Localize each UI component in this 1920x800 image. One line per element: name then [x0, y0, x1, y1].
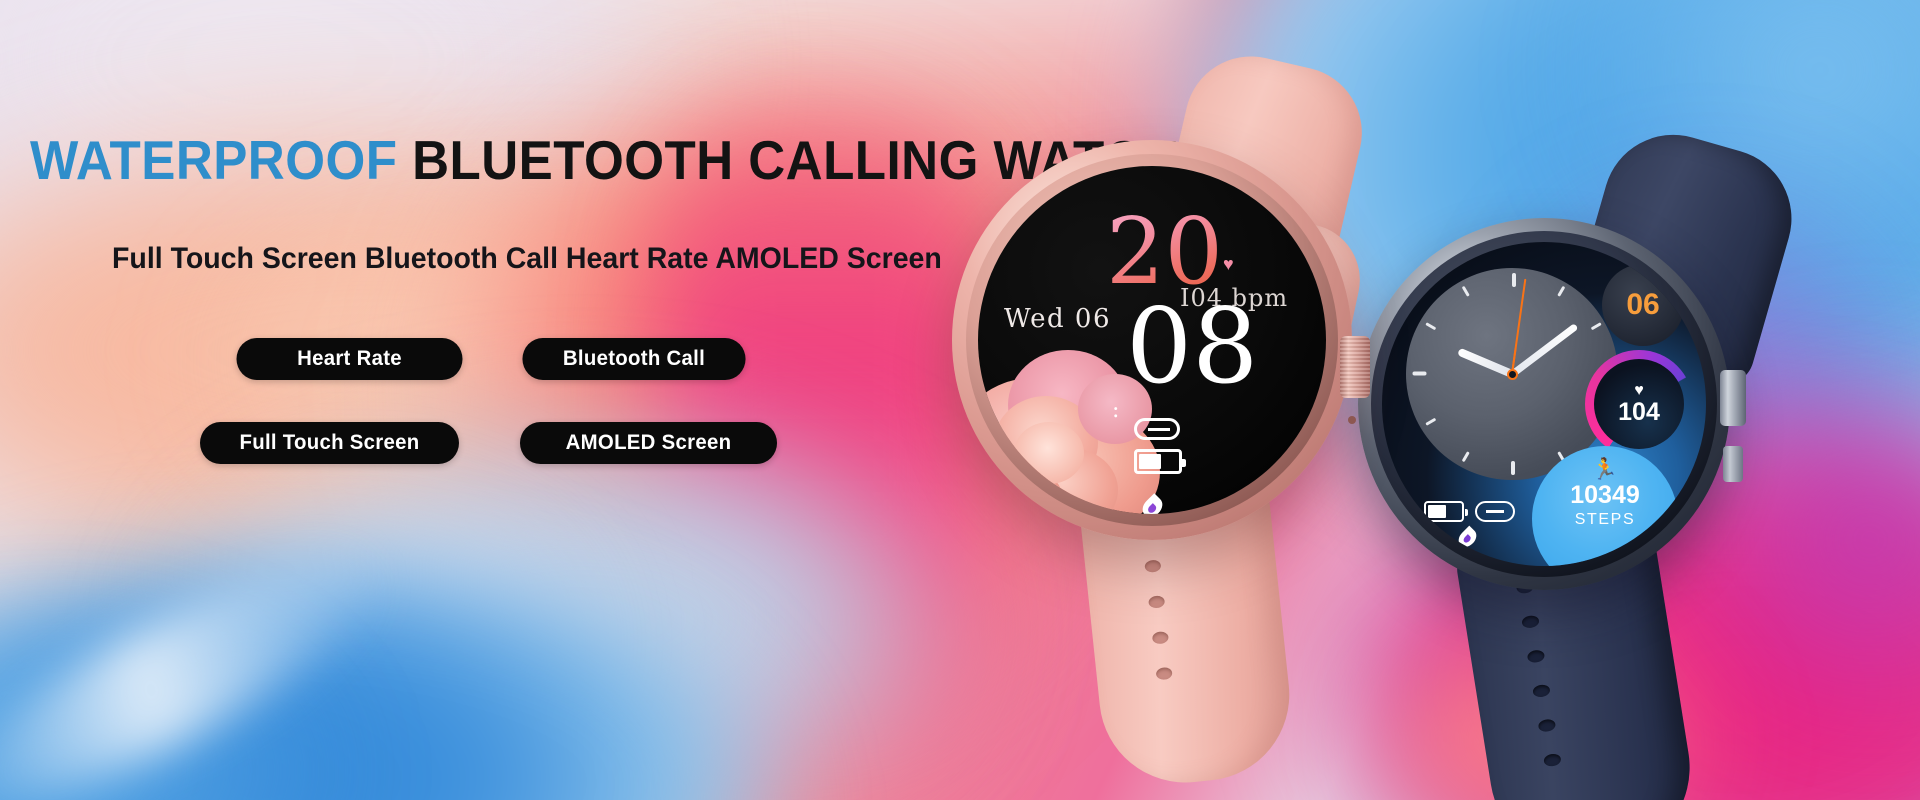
pink-watch-screen[interactable]: 20 Wed 06 ♥ I04 bpm 08 : [978, 166, 1326, 514]
navy-heart-rate-inner: ♥ 104 [1618, 383, 1660, 425]
heart-icon: ♥ [1223, 254, 1234, 275]
pink-side-sensor [1348, 416, 1356, 424]
battery-icon [1134, 449, 1182, 474]
feature-pill-full-touch-screen[interactable]: Full Touch Screen [200, 422, 459, 464]
navy-heart-rate-ring: ♥ 104 [1585, 350, 1693, 458]
navy-crown-button[interactable] [1720, 370, 1746, 426]
pink-watch-case: 20 Wed 06 ♥ I04 bpm 08 : [952, 140, 1352, 540]
pink-status-icons [1134, 418, 1182, 474]
minute-hand [1510, 323, 1578, 377]
feature-pill-group: Heart Rate Bluetooth Call Full Touch Scr… [196, 338, 816, 464]
feature-pill-row-1: Heart Rate Bluetooth Call [196, 338, 816, 380]
dial-pivot [1507, 369, 1518, 380]
feature-pill-bluetooth-call[interactable]: Bluetooth Call [522, 338, 745, 380]
pink-crown-button[interactable] [1340, 336, 1370, 398]
pink-smartwatch: 20 Wed 06 ♥ I04 bpm 08 : [930, 40, 1490, 780]
navy-subdial: 06 [1602, 264, 1684, 346]
navy-steps-value: 10349 [1570, 480, 1640, 511]
feature-pill-heart-rate[interactable]: Heart Rate [236, 338, 462, 380]
navy-heart-rate-value: 104 [1618, 399, 1660, 425]
link-icon [1134, 418, 1180, 440]
headline-highlight: WATERPROOF [30, 129, 397, 191]
runner-icon: 🏃 [1592, 459, 1618, 480]
pink-watch-bezel: 20 Wed 06 ♥ I04 bpm 08 : [966, 154, 1338, 526]
product-banner: WATERPROOF BLUETOOTH CALLING WATCH Full … [0, 0, 1920, 800]
feature-pill-amoled-screen[interactable]: AMOLED Screen [520, 422, 777, 464]
navy-steps-label: STEPS [1575, 511, 1635, 529]
heart-icon: ♥ [1618, 383, 1660, 399]
pink-date-label: Wed 06 [1004, 304, 1111, 334]
navy-side-button[interactable] [1723, 446, 1743, 482]
pink-minute-value: 08 [1126, 294, 1258, 398]
pink-time-colon: : [1112, 398, 1119, 423]
feature-pill-row-2: Full Touch Screen AMOLED Screen [196, 380, 816, 464]
subtitle: Full Touch Screen Bluetooth Call Heart R… [112, 242, 942, 276]
